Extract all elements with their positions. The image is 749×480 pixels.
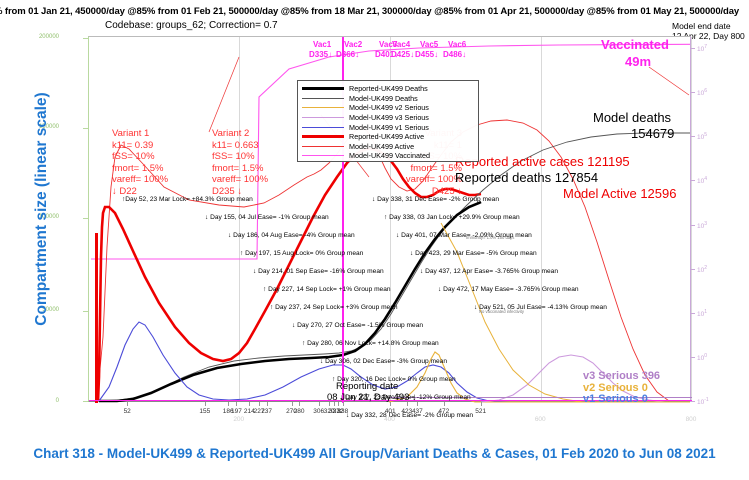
annotation-line: ↑ Day 237, 24 Sep Lock= +3% Group mean [270,304,398,311]
v3-serious-callout: v3 Serious 396 [583,370,660,382]
variant-1-name: Variant 1 [112,128,168,140]
reported-active-start-marker [95,233,98,403]
annotation-line: ↓ Day 472, 17 May Ease= -3.765% Group me… [438,286,579,293]
legend-label: Reported-UK499 Deaths [349,84,428,93]
x-tick-label: 155 [199,408,210,415]
variant-3-vareff: vareff= 100% [370,174,462,186]
x-tick-mark [444,402,445,406]
y-tick-right: 101 [697,309,707,318]
chart-root: % from 01 Jan 21, 450000/day @85% from 0… [0,0,749,480]
annotation-line: ↓ Day 327, 23 Dec Ease= -12% Group mean [340,394,471,401]
legend-item: Reported-UK499 Active [302,132,474,142]
x-tick-label: 401 [385,408,396,415]
x-tick-label: 521 [475,408,486,415]
y-tick-right: 104 [697,176,707,185]
vac2-label: Vac2 [344,40,362,49]
variant-1-fmort: fmort= 1.5% [112,163,168,175]
x-tick-mark [259,402,260,406]
header-top-line: % from 01 Jan 21, 450000/day @85% from 0… [0,6,749,17]
x-tick-label-faint: 400 [384,416,395,423]
annotation-line: ↓ Day 306, 02 Dec Ease= -3% Group mean [320,358,447,365]
annotation-line: ↓ Day 338, 31 Dec Ease= -2% Group mean [372,196,499,203]
variant-1-vareff: vareff= 100% [112,174,168,186]
legend-label: Model-UK499 Vaccinated [349,151,430,160]
y-tick-right: 107 [697,44,707,53]
y-tick-mark [83,218,88,219]
vac5-day: D455↓ [415,50,438,59]
y-tick-mark [690,313,695,314]
variant-1-annotation: Variant 1 k11= 0.39 fSS= 10% fmort= 1.5%… [112,128,168,197]
codebase-label: Codebase: groups_62; Correction= 0.7 [105,20,278,31]
legend-swatch-icon [302,127,344,128]
x-tick-label: 472 [438,408,449,415]
x-tick-mark [267,402,268,406]
legend-label: Model-UK499 Active [349,142,414,151]
legend-label: Model-UK499 v3 Serious [349,113,429,122]
x-tick-mark [334,402,335,406]
y-tick-mark [83,311,88,312]
vac5-label: Vac5 [420,40,438,49]
y-tick-mark [83,401,88,402]
annotation-line: ↑ Day 280, 06 Nov Lock= +14.8% Group mea… [302,340,439,347]
x-tick-mark [236,402,237,406]
x-tick-label: 280 [294,408,305,415]
legend-swatch-icon [302,107,344,108]
x-tick-mark [407,402,408,406]
model-end-label: Model end date [672,21,745,31]
y-tick-left: 0 [0,398,59,404]
vac6-label: Vac6 [448,40,466,49]
x-tick-label: 437 [412,408,423,415]
legend-item: Model-UK499 Deaths [302,94,474,104]
x-tick-label-faint: 800 [686,416,697,423]
vac2-day: D366↓ [336,50,359,59]
legend-label: Model-UK499 v1 Serious [349,123,429,132]
annotation-line: ↑ Day 227, 14 Sep Lock= +1% Group mean [263,286,391,293]
annotation-line: ↓ Day 214, 01 Sep Ease= -16% Group mean [253,268,384,275]
legend-item: Model-UK499 v2 Serious [302,103,474,113]
v1-serious-callout: v1 Serious 0 [583,393,648,405]
vac4-day: D425↓ [391,50,414,59]
x-tick-label-faint: 200 [233,416,244,423]
y-axis-left-label: Compartment size (linear scale) [33,59,51,359]
x-tick-mark [481,402,482,406]
x-tick-mark [292,402,293,406]
legend-label: Reported-UK499 Active [349,132,424,141]
vac1-day: D335↓ [309,50,332,59]
x-tick-label: 237 [261,408,272,415]
variant-3-fmort: fmort= 1.5% [370,163,462,175]
variant-2-fss: fSS= 10% [212,151,268,163]
annotation-line: ↓ Day 155, 04 Jul Ease= -1% Group mean [205,214,329,221]
annotation-line: ↓ Day 270, 27 Oct Ease= -1.5% Group mean [292,322,423,329]
y-tick-mark [690,136,695,137]
model-deaths-label: Model deaths [593,110,671,125]
x-tick-label: 306 [313,408,324,415]
reported-active-cases-callout: Reported active cases 121195 [455,154,630,169]
vaccinated-callout-label: Vaccinated [601,37,669,52]
legend-swatch-icon [302,87,344,90]
variant-2-vareff: vareff= 100% [212,174,268,186]
y-tick-mark [690,269,695,270]
x-tick-mark [390,402,391,406]
legend-item: Model-UK499 Vaccinated [302,151,474,161]
variant-1-fss: fSS= 10% [112,151,168,163]
y-tick-right: 103 [697,221,707,230]
x-tick-mark [127,402,128,406]
chart-title: Chart 318 - Model-UK499 & Reported-UK499… [0,446,749,461]
annotation-line: ↓ Day 401, 07 Mar Ease= -2.09% Group mea… [396,232,532,239]
x-tick-mark [228,402,229,406]
legend-label: Model-UK499 Deaths [349,94,418,103]
annotation-line: ↓ Day 521, 05 Jul Ease= -4.13% Group mea… [474,304,607,311]
variant-2-fmort: fmort= 1.5% [212,163,268,175]
annotation-line: ↑ Day 320, 16 Dec Lock= 0% Group mean [332,376,456,383]
annotation-line: ↑Day 52, 23 Mar Lock= +84.3% Group mean [122,196,253,203]
x-tick-mark [343,402,344,406]
y-tick-mark [690,92,695,93]
x-tick-mark [338,402,339,406]
leader-line-active-callout [649,67,689,95]
x-tick-label: 423 [401,408,412,415]
y-tick-mark [690,357,695,358]
y-tick-mark [83,128,88,129]
legend-item: Model-UK499 v3 Serious [302,113,474,123]
legend-swatch-icon [302,146,344,147]
y-tick-left: 200000 [0,34,59,40]
vac6-day: D486↓ [443,50,466,59]
annotation-line: ↓ Day 186, 04 Aug Ease= -4% Group mean [228,232,355,239]
vac1-label: Vac1 [313,40,331,49]
legend-swatch-icon [302,155,344,156]
y-tick-right: 10-1 [697,397,709,406]
x-tick-mark [249,402,250,406]
x-tick-mark [417,402,418,406]
legend-item: Reported-UK499 Deaths [302,84,474,94]
y-tick-right: 102 [697,265,707,274]
leader-line-variant1 [209,57,239,132]
annotation-line: ↓ Day 423, 29 Mar Ease= -5% Group mean [410,250,537,257]
annotation-line: ↑ Day 338, 03 Jan Lock= +29.9% Group mea… [384,214,520,221]
model-active-callout: Model Active 12596 [563,186,676,201]
y-tick-mark [690,225,695,226]
annotation-line: ↑ Day 197, 15 Aug Lock= 0% Group mean [240,250,363,257]
legend-swatch-icon [302,98,344,99]
y-tick-right: 105 [697,132,707,141]
y-tick-mark [690,48,695,49]
y-tick-mark [690,180,695,181]
variant-1-k11: k11= 0.39 [112,140,168,152]
x-tick-mark [299,402,300,406]
x-tick-mark [329,402,330,406]
legend-label: Model-UK499 v2 Serious [349,103,429,112]
y-tick-mark [83,38,88,39]
vac4-label: Vac4 [392,40,410,49]
y-tick-mark [690,401,695,402]
legend-item: Model-UK499 Active [302,142,474,152]
y-tick-right: 106 [697,88,707,97]
x-tick-label: 52 [124,408,131,415]
legend-swatch-icon [302,117,344,118]
model-deaths-value: 154679 [631,126,674,141]
x-tick-mark [205,402,206,406]
vaccinated-callout-value: 49m [625,54,651,69]
variant-2-name: Variant 2 [212,128,268,140]
y-tick-right: 100 [697,353,707,362]
variant-2-annotation: Variant 2 k11= 0.663 fSS= 10% fmort= 1.5… [212,128,268,197]
x-tick-label: 197 [231,408,242,415]
legend-item: Model-UK499 v1 Serious [302,122,474,132]
variant-2-k11: k11= 0.663 [212,140,268,152]
annotation-line: ↓ Day 437, 12 Apr Ease= -3.765% Group me… [420,268,558,275]
x-tick-label-faint: 600 [535,416,546,423]
legend: Reported-UK499 Deaths Model-UK499 Deaths… [297,80,479,162]
x-tick-mark [319,402,320,406]
x-tick-label: 338 [337,408,348,415]
legend-swatch-icon [302,135,344,138]
reported-deaths-callout: Reported deaths 127854 [455,170,598,185]
